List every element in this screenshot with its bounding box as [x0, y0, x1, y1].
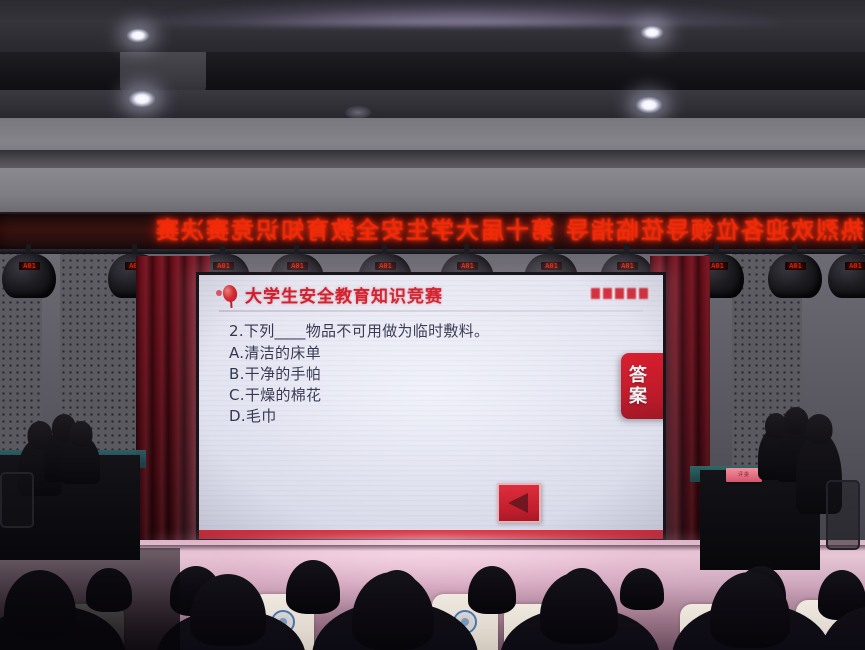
audience-head-front [190, 574, 266, 646]
audience-head-front [540, 572, 618, 644]
recessed-downlight [640, 25, 664, 40]
led-scrolling-banner: 热烈欢迎各位领导莅临指导 第十届大学生安全教育知识竞赛决赛 [0, 214, 865, 250]
light-display: A01 [287, 262, 308, 270]
stage-light: A01 [768, 250, 822, 300]
chair-left [0, 472, 34, 528]
option-d[interactable]: D.毛巾 [229, 406, 629, 427]
audience-head-front [352, 572, 434, 650]
slide-title: 大学生安全教育知识竞赛 [245, 282, 443, 307]
wall-shadow-band [0, 150, 865, 170]
light-display: A01 [375, 262, 396, 270]
light-display: A01 [617, 262, 638, 270]
foreground-shadow-left [0, 548, 180, 650]
show-answer-label: 答案 [627, 365, 649, 407]
previous-slide-button[interactable] [497, 483, 541, 523]
stage-light: A01 [828, 250, 865, 300]
stage-light: A01 [2, 250, 56, 300]
option-c[interactable]: C.干燥的棉花 [229, 385, 629, 406]
light-display: A01 [457, 262, 478, 270]
balloon-icon [221, 284, 238, 304]
sparkle-icon [216, 290, 222, 296]
slide-header: 大学生安全教育知识竞赛 [199, 280, 663, 310]
judge-head [806, 414, 833, 444]
header-rule [219, 310, 643, 312]
judge-left-3 [62, 436, 100, 484]
option-a[interactable]: A.清洁的床单 [229, 343, 629, 364]
name-card-right-text: 评委 [726, 468, 762, 482]
auditorium-scene: 热烈欢迎各位领导莅临指导 第十届大学生安全教育知识竞赛决赛 A01 A01 A0… [0, 0, 865, 650]
ceiling [0, 0, 865, 122]
ceiling-ambient-glow [140, 0, 780, 26]
light-display: A01 [213, 262, 234, 270]
question-stem: 2.下列____物品不可用做为临时敷料。 [229, 321, 629, 342]
led-banner-text: 热烈欢迎各位领导莅临指导 第十届大学生安全教育知识竞赛决赛 [4, 217, 864, 245]
light-display: A01 [785, 262, 806, 270]
recessed-downlight [635, 96, 663, 114]
recessed-downlight [128, 90, 156, 108]
audience-head [620, 568, 664, 610]
option-b[interactable]: B.干净的手帕 [229, 364, 629, 385]
light-body [828, 254, 865, 298]
audience-head [468, 566, 516, 614]
light-display: A01 [845, 262, 865, 270]
recessed-downlight [126, 28, 150, 43]
light-display: A01 [19, 262, 40, 270]
projection-screen: 大学生安全教育知识竞赛 2.下列____物品不可用做为临时敷料。 A.清洁的床单… [199, 275, 663, 539]
left-triangle-icon [508, 493, 528, 513]
light-display: A01 [707, 262, 728, 270]
slide-body: 2.下列____物品不可用做为临时敷料。 A.清洁的床单 B.干净的手帕 C.干… [229, 321, 629, 427]
audience-head [286, 560, 340, 614]
header-decoration [591, 288, 649, 299]
name-card-right: 评委 [726, 468, 762, 482]
chair-right [826, 480, 860, 550]
light-body [768, 254, 822, 298]
wall-mid-band [0, 168, 865, 214]
judge-head [70, 421, 93, 447]
show-answer-tab[interactable]: 答案 [621, 353, 663, 419]
light-display: A01 [541, 262, 562, 270]
light-body [2, 254, 56, 298]
